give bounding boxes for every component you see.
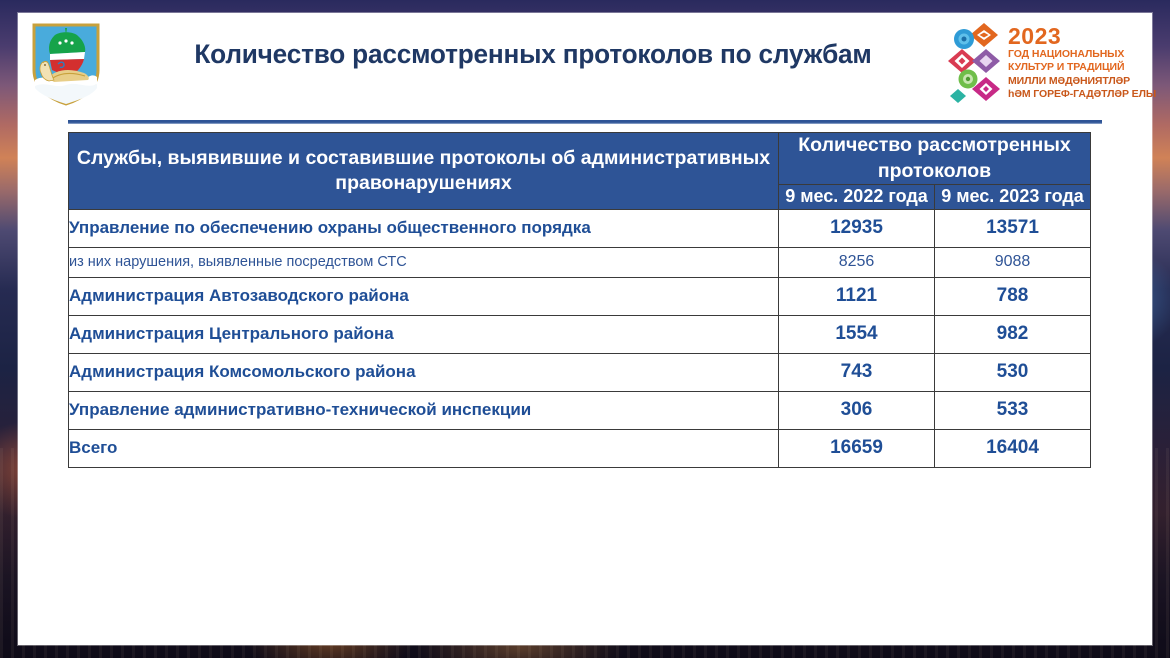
column-header-period-2022: 9 мес. 2022 года — [779, 185, 935, 209]
row-value-2022: 12935 — [779, 209, 935, 247]
column-header-count-group: Количество рассмотренных протоколов — [779, 133, 1091, 185]
row-value-2022: 1121 — [779, 277, 935, 315]
table-header-row-1: Службы, выявившие и составившие протокол… — [69, 133, 1091, 185]
row-value-2023: 530 — [935, 353, 1091, 391]
emblem-line-4: һӘМ ГОРЕФ-ГАДӘТЛӘР ЕЛЫ — [1008, 88, 1156, 101]
total-label: Всего — [69, 429, 779, 467]
page-title: Количество рассмотренных протоколов по с… — [130, 39, 935, 70]
table-body: Управление по обеспечению охраны обществ… — [69, 209, 1091, 467]
slide-card: Количество рассмотренных протоколов по с… — [18, 13, 1152, 645]
emblem-year: 2023 — [1008, 25, 1156, 48]
emblem-line-1: ГОД НАЦИОНАЛЬНЫХ — [1008, 48, 1156, 61]
table-subrow: из них нарушения, выявленные посредством… — [69, 247, 1091, 277]
emblem-line-2: КУЛЬТУР И ТРАДИЦИЙ — [1008, 61, 1156, 74]
table-row-total: Всего 16659 16404 — [69, 429, 1091, 467]
year-2023-emblem: 2023 ГОД НАЦИОНАЛЬНЫХ КУЛЬТУР И ТРАДИЦИЙ… — [948, 19, 1144, 107]
table-container: Службы, выявившие и составившие протокол… — [68, 132, 1090, 468]
column-header-period-2023: 9 мес. 2023 года — [935, 185, 1091, 209]
total-value-2022: 16659 — [779, 429, 935, 467]
table-row: Управление по обеспечению охраны обществ… — [69, 209, 1091, 247]
row-label: Управление административно-технической и… — [69, 391, 779, 429]
row-value-2022: 743 — [779, 353, 935, 391]
total-value-2023: 16404 — [935, 429, 1091, 467]
tatar-ornament-icon — [948, 21, 1004, 105]
coat-of-arms-icon — [30, 22, 102, 106]
emblem-line-3: МИЛЛИ МӘДӘНИЯТЛӘР — [1008, 75, 1156, 88]
row-label: Администрация Автозаводского района — [69, 277, 779, 315]
subrow-value-2023: 9088 — [935, 247, 1091, 277]
table-head: Службы, выявившие и составившие протокол… — [69, 133, 1091, 210]
protocols-table: Службы, выявившие и составившие протокол… — [68, 132, 1091, 468]
table-row: Администрация Комсомольского района 743 … — [69, 353, 1091, 391]
row-value-2023: 982 — [935, 315, 1091, 353]
row-value-2022: 1554 — [779, 315, 935, 353]
row-label: Управление по обеспечению охраны обществ… — [69, 209, 779, 247]
table-row: Администрация Автозаводского района 1121… — [69, 277, 1091, 315]
row-value-2023: 13571 — [935, 209, 1091, 247]
row-label: Администрация Комсомольского района — [69, 353, 779, 391]
column-header-services: Службы, выявившие и составившие протокол… — [69, 133, 779, 210]
slide-header: Количество рассмотренных протоколов по с… — [18, 13, 1152, 115]
table-row: Администрация Центрального района 1554 9… — [69, 315, 1091, 353]
table-row: Управление административно-технической и… — [69, 391, 1091, 429]
header-divider — [68, 120, 1102, 124]
row-value-2022: 306 — [779, 391, 935, 429]
subrow-value-2022: 8256 — [779, 247, 935, 277]
row-value-2023: 788 — [935, 277, 1091, 315]
subrow-label: из них нарушения, выявленные посредством… — [69, 247, 779, 277]
row-label: Администрация Центрального района — [69, 315, 779, 353]
row-value-2023: 533 — [935, 391, 1091, 429]
